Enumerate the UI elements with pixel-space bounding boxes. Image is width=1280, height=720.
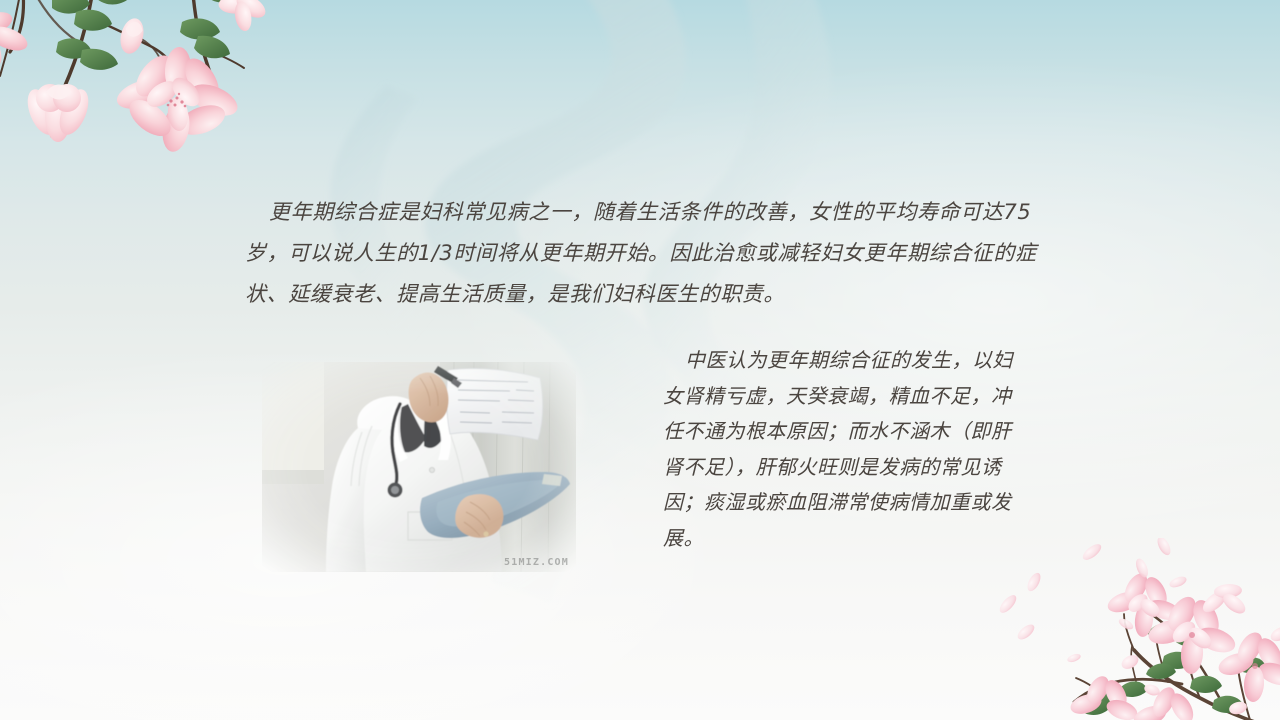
paragraph-intro: 更年期综合症是妇科常见病之一，随着生活条件的改善，女性的平均寿命可达75岁，可以… — [245, 192, 1065, 315]
photo-watermark: 51MIZ.COM — [504, 557, 569, 568]
doctor-photo: 51MIZ.COM — [262, 362, 576, 572]
paragraph-tcm-theory: 中医认为更年期综合征的发生，以妇女肾精亏虚，天癸衰竭，精血不足，冲任不通为根本原… — [663, 343, 1019, 556]
top-left-blossom-decoration — [0, 0, 286, 165]
doctor-photo-image — [262, 362, 576, 572]
background-glow — [0, 0, 1280, 720]
bottom-right-blossom-decoration — [986, 538, 1280, 720]
slide-canvas: 51MIZ.COM 更年期综合症是妇科常见病之一，随着生活条件的改善，女性的平均… — [0, 0, 1280, 720]
